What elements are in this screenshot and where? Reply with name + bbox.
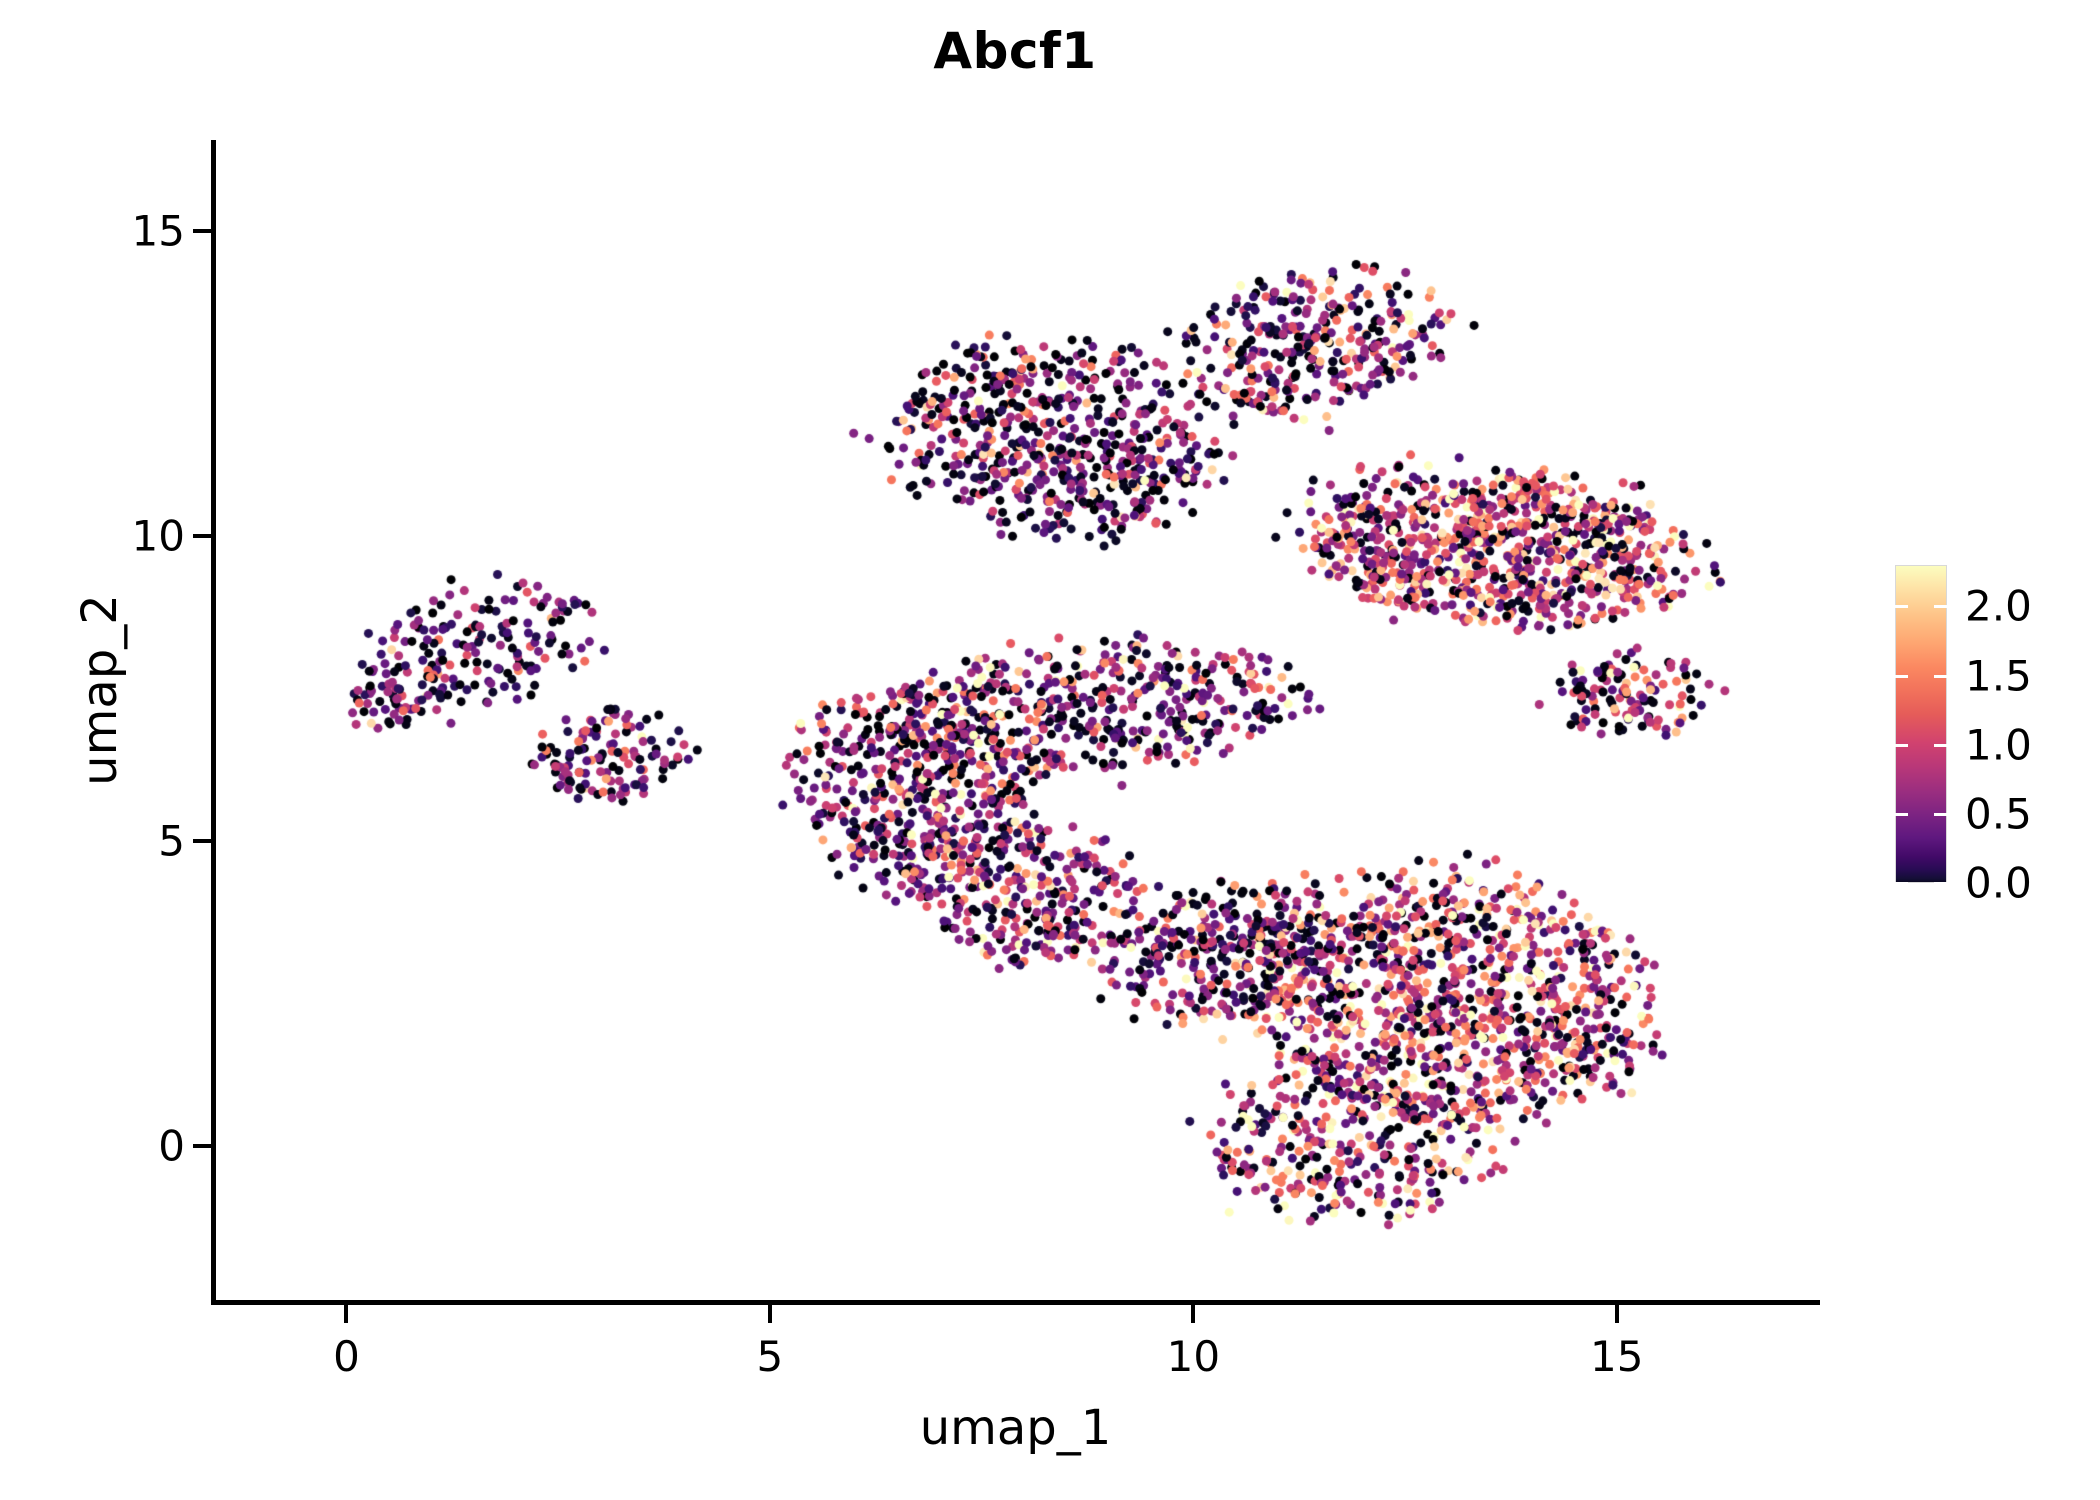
x-tick-label: 5 xyxy=(757,1332,784,1381)
colorbar-tick-label: 2.0 xyxy=(1965,582,2032,631)
colorbar-tick-label: 1.5 xyxy=(1965,651,2032,700)
colorbar-tick-mark xyxy=(1895,744,1947,747)
x-tick-mark xyxy=(1191,1305,1195,1323)
colorbar-tick-mark xyxy=(1895,675,1947,678)
y-tick-mark xyxy=(193,1144,211,1148)
scatter-plot-figure: Abcf1 051015 051015 umap_1 umap_2 0.00.5… xyxy=(0,0,2100,1500)
x-axis-label: umap_1 xyxy=(211,1400,1820,1456)
page-title: Abcf1 xyxy=(210,22,1820,80)
x-tick-label: 15 xyxy=(1590,1332,1643,1381)
y-tick-label: 10 xyxy=(132,512,185,561)
x-tick-mark xyxy=(1615,1305,1619,1323)
y-tick-label: 5 xyxy=(158,817,185,866)
scatter-points-canvas xyxy=(211,140,1820,1305)
colorbar-tick-mark xyxy=(1895,605,1947,608)
y-tick-mark xyxy=(193,534,211,538)
colorbar-gradient xyxy=(1895,565,1947,883)
x-tick-label: 10 xyxy=(1167,1332,1220,1381)
plot-axes: 051015 051015 xyxy=(211,140,1820,1305)
colorbar-tick-label: 1.0 xyxy=(1965,720,2032,769)
x-tick-label: 0 xyxy=(333,1332,360,1381)
y-tick-label: 0 xyxy=(158,1122,185,1171)
y-tick-label: 15 xyxy=(132,207,185,256)
x-tick-mark xyxy=(344,1305,348,1323)
colorbar-tick-mark xyxy=(1895,882,1947,885)
y-axis-label: umap_2 xyxy=(72,480,128,900)
colorbar: 0.00.51.01.52.0 xyxy=(1895,565,2085,885)
colorbar-tick-label: 0.0 xyxy=(1965,859,2032,908)
colorbar-tick-label: 0.5 xyxy=(1965,789,2032,838)
y-tick-mark xyxy=(193,229,211,233)
colorbar-tick-mark xyxy=(1895,813,1947,816)
x-tick-mark xyxy=(768,1305,772,1323)
y-tick-mark xyxy=(193,839,211,843)
